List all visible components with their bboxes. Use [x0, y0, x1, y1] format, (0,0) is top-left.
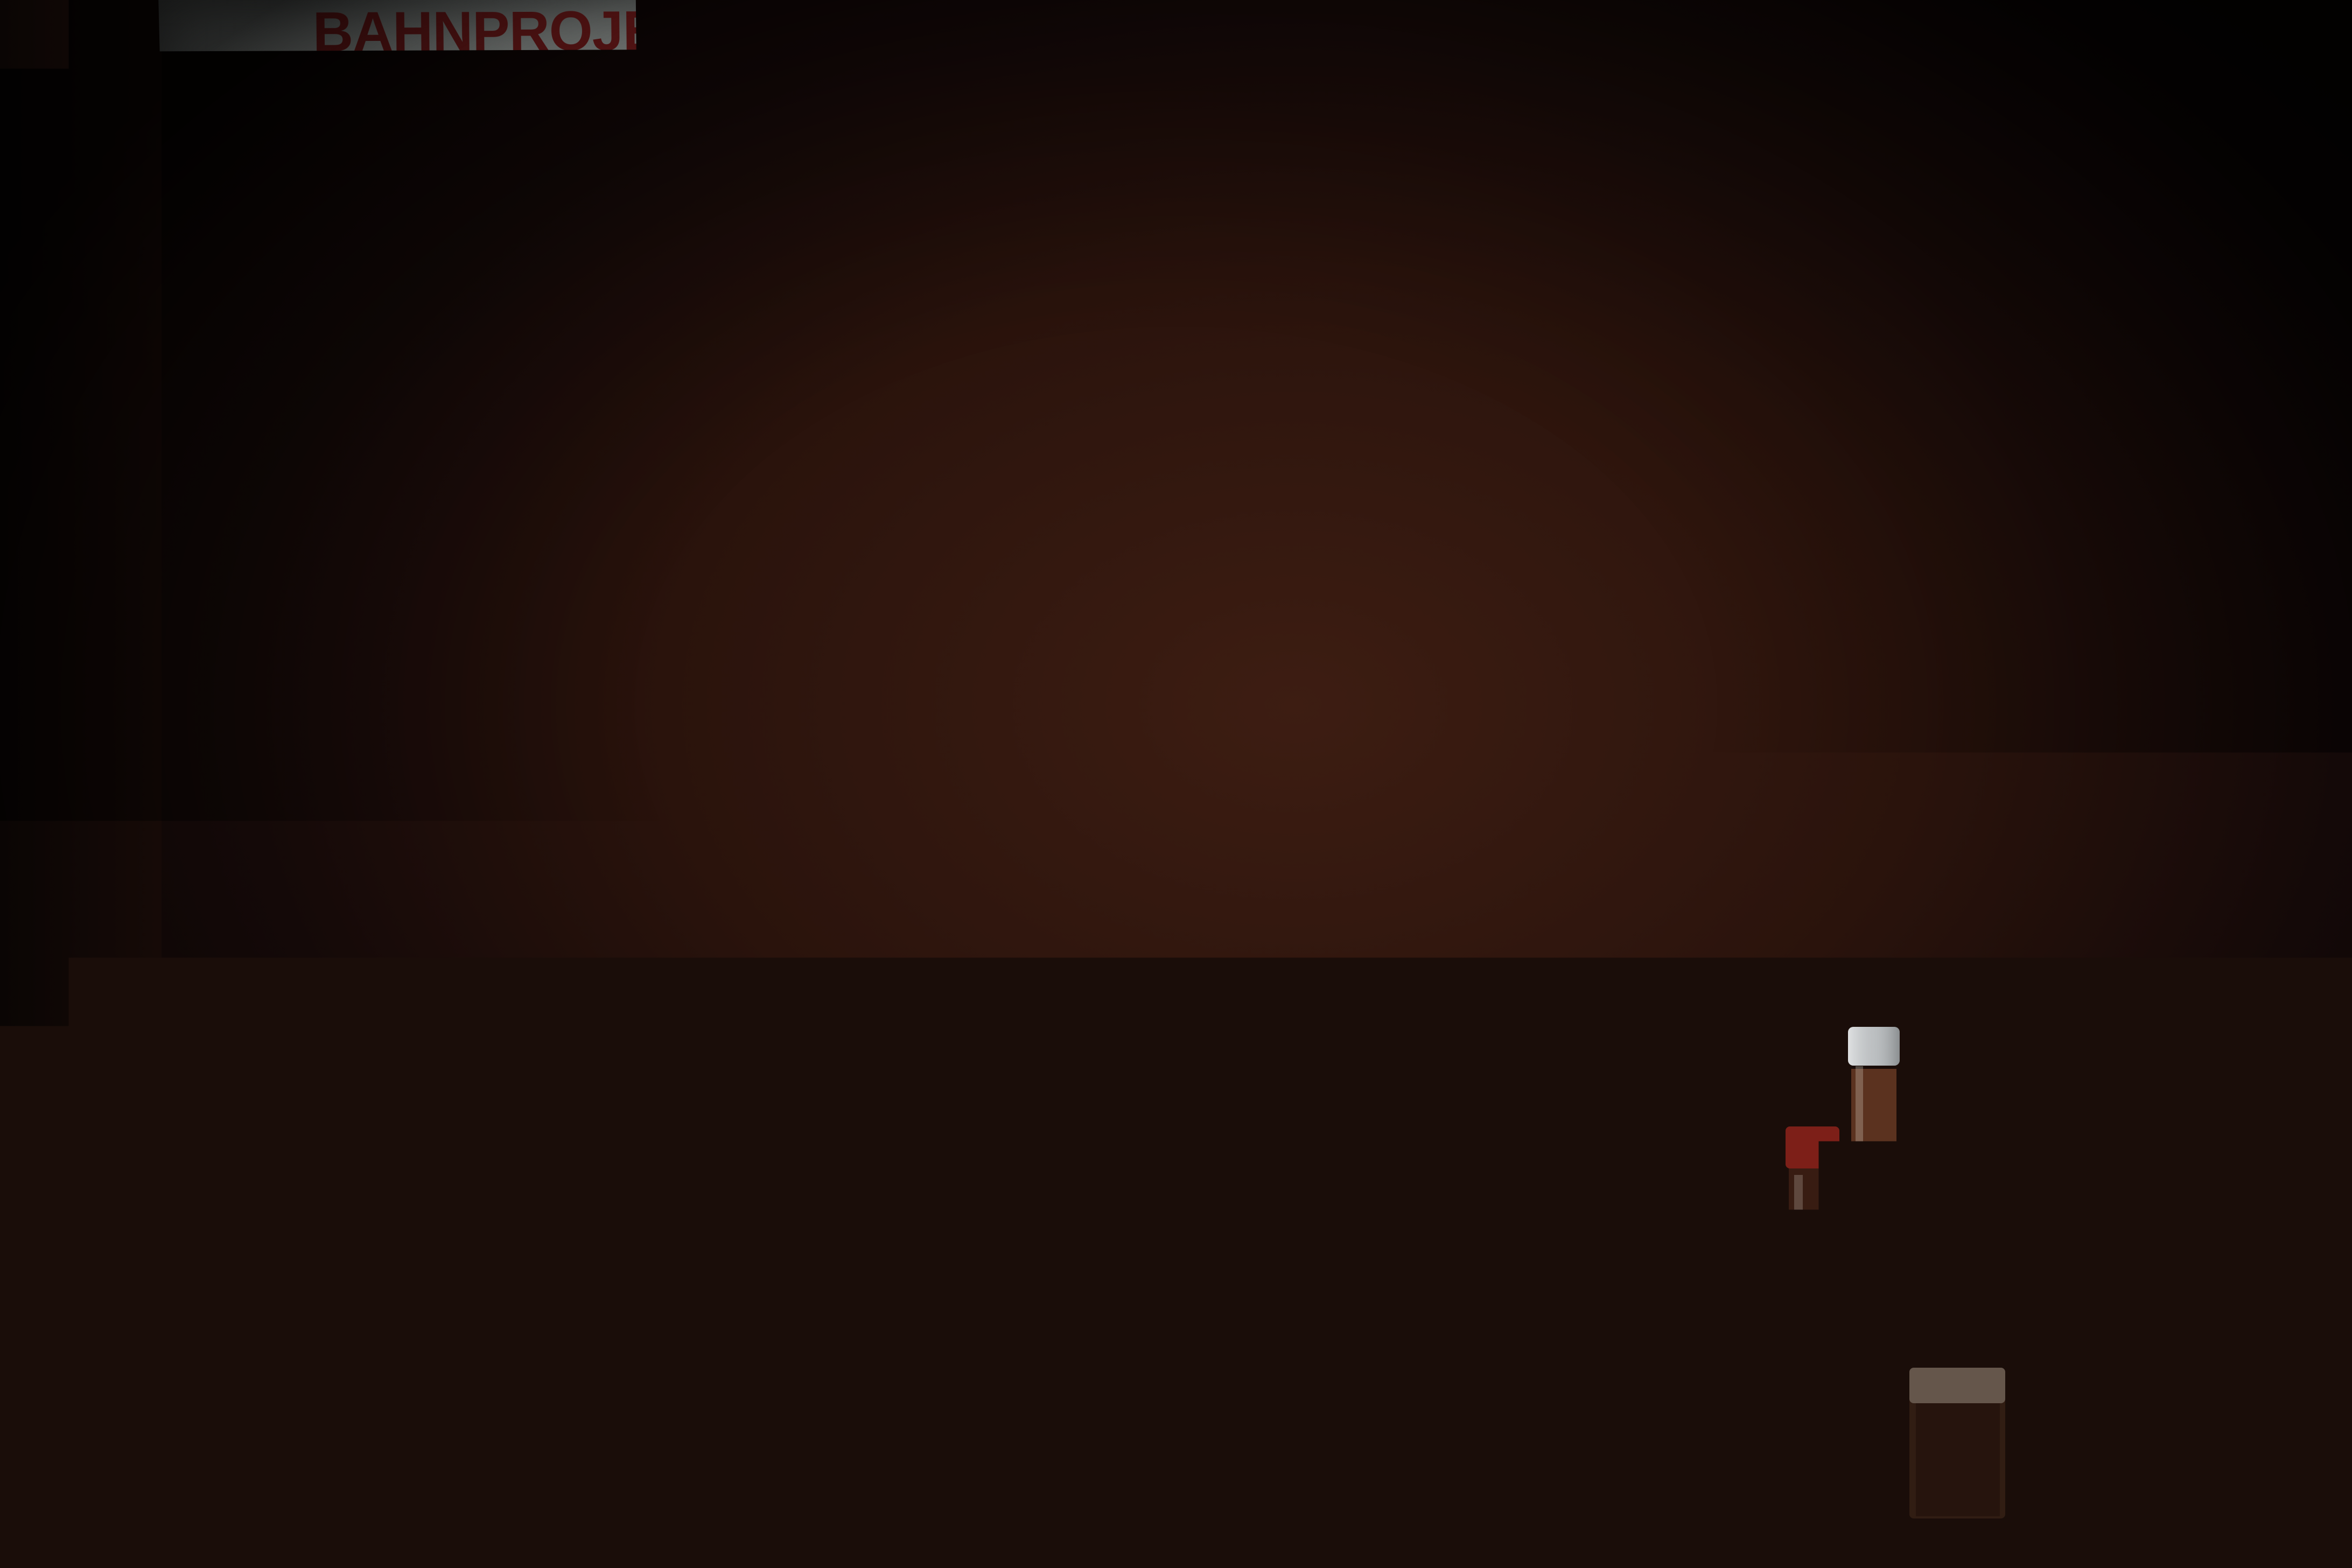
- projection-screen-wrapper: BAHNPROJEKT STUTTGART–ULM UMBAU VORHANDE…: [135, 0, 2298, 1529]
- stuttgart-horse-icon: [1058, 1401, 1088, 1453]
- legend: LEGENDE BAHNHOF S-BAHN STRECKEN - VERLAU…: [1811, 208, 2253, 246]
- photo-of-projection-screen: BAHNPROJEKT STUTTGART–ULM UMBAU VORHANDE…: [0, 0, 2352, 1568]
- label-von-und-nach-kornwestheim-2: Kornwestheim: [1102, 383, 1217, 403]
- projection-screen: BAHNPROJEKT STUTTGART–ULM UMBAU VORHANDE…: [135, 0, 2298, 1502]
- label-wartungsbahnhof-2: Untertürkheim: [1577, 544, 1691, 564]
- station-tag-obertuerkheim: Obertürkheim: [1668, 977, 1784, 1003]
- legend-label-s-bahn: S-BAHN: [1945, 367, 2059, 402]
- aufweitung-arrowhead: [761, 672, 796, 703]
- s-bahn-stadion-line-2: Stadion: [1334, 722, 1391, 739]
- station-tag-untertuerkheim: Untertürkheim: [1676, 729, 1797, 755]
- callout-p-option: P-OPTION: [752, 272, 942, 333]
- label-option-y: Option "Y": [601, 654, 676, 670]
- logo-db: DB Mobility Networks Logistics: [590, 1384, 750, 1480]
- option-line-icon: [1821, 591, 1917, 595]
- db-sub-line-1: Mobility: [676, 1400, 748, 1422]
- streckenverlauf-line-icon: [1819, 495, 1916, 499]
- legend-label-strecken-2: VERLAUF S 21: [1947, 482, 2152, 517]
- db-sub-line-2: Networks: [676, 1421, 749, 1443]
- label-wartungsbahnhof-1: Wartungsbahnhof: [1577, 517, 1719, 537]
- label-von-und-nach-kornwestheim-1: von und nach: [1108, 357, 1216, 377]
- legend-title: LEGENDE: [1811, 208, 2253, 246]
- partner-logos: Baden-Württemberg DB Mobility Networks L…: [363, 1369, 1291, 1480]
- legend-label-option: OPTION: [1947, 562, 2059, 597]
- station-tag-feuerbach: Feuerbach: [296, 388, 389, 414]
- logo-label-baden-wuerttemberg: Baden-Württemberg: [364, 1440, 514, 1460]
- logo-stuttgart: STUTTGART: [837, 1401, 1088, 1454]
- station-tag-mittnachtstrasse: Mittnachtstrasse: [611, 776, 748, 802]
- label-nbs-flughafen-ulm: NBS von und nach Flughafen - Ulm: [957, 1219, 1236, 1239]
- db-mark-icon: DB: [590, 1385, 668, 1480]
- logo-label-stuttgart: STUTTGART: [838, 1410, 1019, 1444]
- station-tag-s-bahn-stadion: S. Bahn Stadion: [1326, 701, 1399, 744]
- baden-wuerttemberg-crest-icon: [411, 1377, 465, 1437]
- stuttgart-divider: [1037, 1401, 1040, 1453]
- bahnhof-swatch-icon: [1818, 289, 1910, 344]
- station-tag-bad-cannstatt: Bad Cannstatt: [1093, 540, 1213, 566]
- callout-aufweitungsbereich: AUFWEITUNGSBEREICH: [893, 835, 1294, 897]
- label-von-und-nach-waiblingen: von und nach Waiblingen: [1271, 289, 1473, 309]
- station-marker-icon: [1292, 556, 1312, 577]
- db-sub-line-3: Logistics: [676, 1443, 749, 1464]
- legend-label-strecken-1: STRECKEN -: [1946, 447, 2152, 482]
- vrs-line-2: Stuttgart: [1131, 1431, 1231, 1450]
- label-gaeubahnviadukt: Gäubahnviadukt: [696, 719, 810, 737]
- logo-baden-wuerttemberg: Baden-Württemberg: [363, 1377, 514, 1460]
- legend-label-bahnhof: BAHNHOF: [1940, 298, 2085, 333]
- bottle-plastic: [1750, 1115, 1874, 1567]
- logo-verband-region-stuttgart: Verband Region Stuttgart: [1123, 1369, 1290, 1450]
- presentation-slide: BAHNPROJEKT STUTTGART–ULM UMBAU VORHANDE…: [135, 0, 2298, 1502]
- legend-item-bahnhof: BAHNHOF: [1818, 288, 2085, 344]
- dark-objects-on-table: [2089, 1432, 2352, 1567]
- station-tag-nordbahnhof: Nordbahnhof: [834, 583, 946, 609]
- s-bahn-stadion-line-1: S. Bahn: [1334, 705, 1391, 723]
- label-schwabstrasse-2: Schwabstrasse: [474, 1281, 596, 1301]
- p-option-arrowhead: [736, 446, 769, 478]
- label-pragtunnel: Pragtunnel: [703, 391, 790, 411]
- legend-item-option: OPTION: [1821, 575, 2060, 610]
- station-tag-hauptbahnhof: Hauptbahnhof: [538, 1194, 658, 1220]
- vrs-line-1: Verband Region: [1130, 1394, 1231, 1432]
- s-bahn-line-icon: [1818, 396, 1915, 400]
- footer-note: Gemeinsam für das Bahnprojekt Stuttgart–…: [374, 1312, 770, 1334]
- legend-item-streckenverlauf-s21: STRECKEN - VERLAUF S 21: [1819, 461, 2152, 531]
- label-schwabstrasse-1: S-Bahn von und nach: [474, 1256, 646, 1276]
- verband-region-stuttgart-mark-icon: [1231, 1369, 1291, 1450]
- drink-glass: [1901, 1362, 2014, 1524]
- label-von-und-nach-zuffenhausen: von und nach Zuffenhausen: [352, 219, 575, 239]
- legend-item-s-bahn: S-BAHN: [1818, 380, 2059, 415]
- label-rosensteintunnel: Rosensteintunnel: [1079, 696, 1201, 713]
